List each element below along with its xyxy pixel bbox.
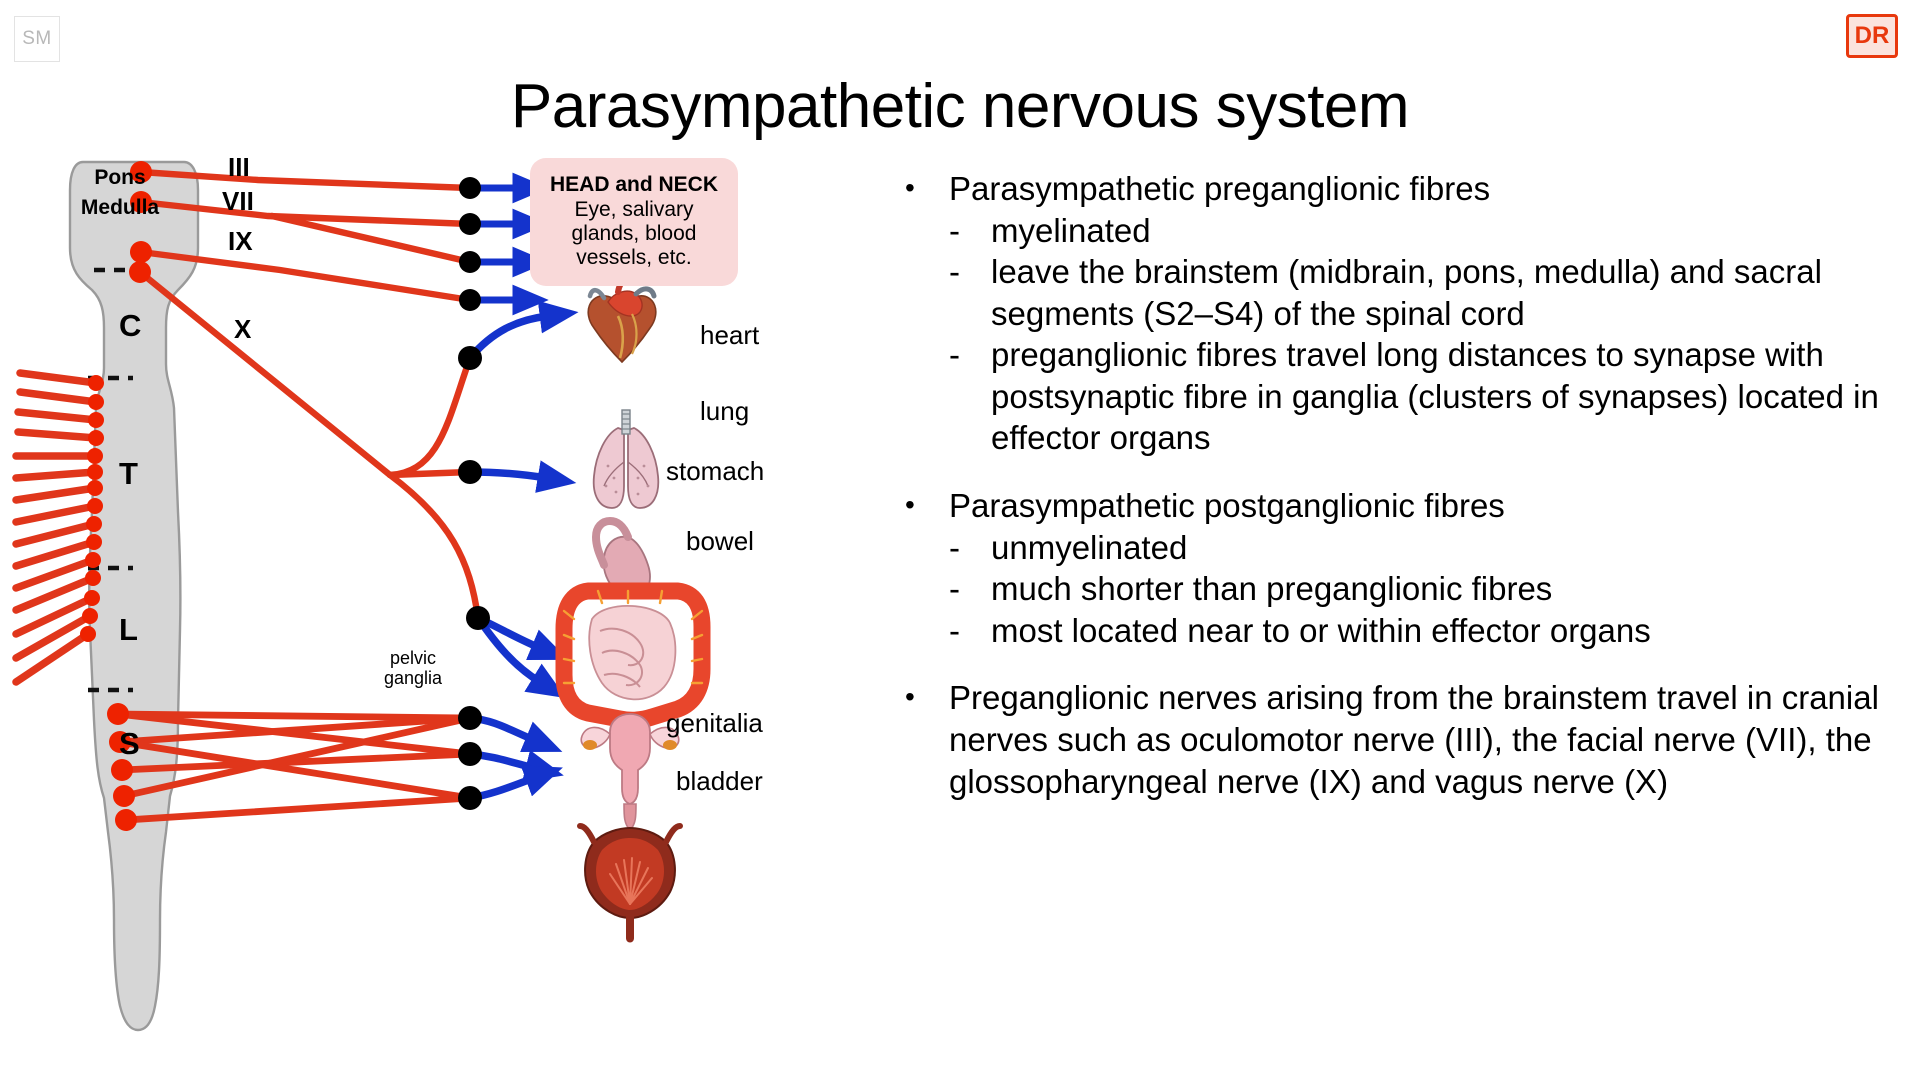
sub-text: leave the brainstem (midbrain, pons, med…	[991, 251, 1905, 334]
head-and-neck-callout: HEAD and NECK Eye, salivary glands, bloo…	[530, 158, 738, 286]
headneck-postganglionic-arrows	[480, 188, 520, 300]
bullet-item: • Preganglionic nerves arising from the …	[905, 677, 1905, 802]
sub-text: myelinated	[991, 210, 1905, 252]
content-block-cranial-nerves: • Preganglionic nerves arising from the …	[905, 677, 1905, 802]
bullet-text: Parasympathetic preganglionic fibres	[949, 168, 1905, 210]
cranial-nerve-label-VII: VII	[222, 186, 254, 217]
cord-region-lumbar: L	[119, 612, 138, 648]
sub-item: - much shorter than preganglionic fibres	[949, 568, 1905, 610]
organ-label-stomach: stomach	[666, 456, 764, 487]
dash-glyph: -	[949, 610, 991, 652]
sub-item: - preganglionic fibres travel long dista…	[949, 334, 1905, 459]
organ-label-lung: lung	[700, 396, 749, 427]
pelvic-ganglia	[458, 706, 482, 810]
cranial-nerve-label-III: III	[228, 152, 250, 183]
sub-text: much shorter than preganglionic fibres	[991, 568, 1905, 610]
fibre-X-to-gut	[390, 475, 478, 618]
cord-region-sacral: S	[119, 726, 140, 762]
cranial-nerve-label-IX: IX	[228, 226, 253, 257]
sub-text: most located near to or within effector …	[991, 610, 1905, 652]
pelvic-ganglia-note-line1: pelvic	[368, 648, 458, 668]
content-block-postganglionic: • Parasympathetic postganglionic fibres …	[905, 485, 1905, 651]
diagram-svg	[0, 120, 880, 1060]
organ-label-bowel: bowel	[686, 526, 754, 557]
lung-illustration	[594, 410, 659, 508]
cranial-nerve-label-X: X	[234, 314, 251, 345]
brainstem-pons-label: Pons	[66, 166, 174, 190]
sub-item: - leave the brainstem (midbrain, pons, m…	[949, 251, 1905, 334]
dash-glyph: -	[949, 251, 991, 293]
sub-item: - most located near to or within effecto…	[949, 610, 1905, 652]
arrow-to-bowel	[478, 618, 540, 682]
organ-label-bladder: bladder	[676, 766, 763, 797]
organ-label-genitalia: genitalia	[666, 708, 763, 739]
genitalia-illustration	[581, 714, 678, 830]
sub-item: - unmyelinated	[949, 527, 1905, 569]
dash-glyph: -	[949, 568, 991, 610]
bladder-illustration	[580, 826, 680, 943]
head-and-neck-body: Eye, salivary glands, blood vessels, etc…	[540, 198, 728, 271]
fibre-X-to-heart	[390, 358, 470, 475]
bullet-glyph: •	[905, 168, 949, 207]
dr-logo-badge: DR	[1846, 14, 1898, 58]
bullet-text: Preganglionic nerves arising from the br…	[949, 677, 1905, 802]
cord-region-cervical: C	[119, 308, 141, 344]
bullet-text: Parasympathetic postganglionic fibres	[949, 485, 1905, 527]
dash-glyph: -	[949, 210, 991, 252]
pelvic-ganglia-note: pelvic ganglia	[368, 648, 458, 688]
sm-logo-badge: SM	[14, 16, 60, 62]
arrow-to-heart	[470, 316, 548, 358]
sub-item: - myelinated	[949, 210, 1905, 252]
head-and-neck-title: HEAD and NECK	[550, 173, 718, 197]
dash-glyph: -	[949, 527, 991, 569]
fibre-X-to-lung	[390, 472, 470, 475]
explanatory-text-column: • Parasympathetic preganglionic fibres -…	[905, 168, 1905, 802]
parasympathetic-diagram: Pons Medulla C T L S III VII IX X HEAD a…	[0, 120, 880, 1060]
bullet-item: • Parasympathetic postganglionic fibres	[905, 485, 1905, 527]
content-block-preganglionic: • Parasympathetic preganglionic fibres -…	[905, 168, 1905, 459]
cord-region-thoracic: T	[119, 456, 138, 492]
bullet-glyph: •	[905, 677, 949, 716]
dash-glyph: -	[949, 334, 991, 376]
fibre-X-trunk	[140, 272, 390, 475]
organ-label-heart: heart	[700, 320, 759, 351]
heart-illustration	[588, 279, 656, 363]
bullet-glyph: •	[905, 485, 949, 524]
sub-text: preganglionic fibres travel long distanc…	[991, 334, 1905, 459]
headneck-ganglia	[459, 177, 481, 311]
bullet-item: • Parasympathetic preganglionic fibres	[905, 168, 1905, 210]
sub-text: unmyelinated	[991, 527, 1905, 569]
brainstem-medulla-label: Medulla	[54, 196, 186, 220]
pelvic-ganglia-note-line2: ganglia	[368, 668, 458, 688]
